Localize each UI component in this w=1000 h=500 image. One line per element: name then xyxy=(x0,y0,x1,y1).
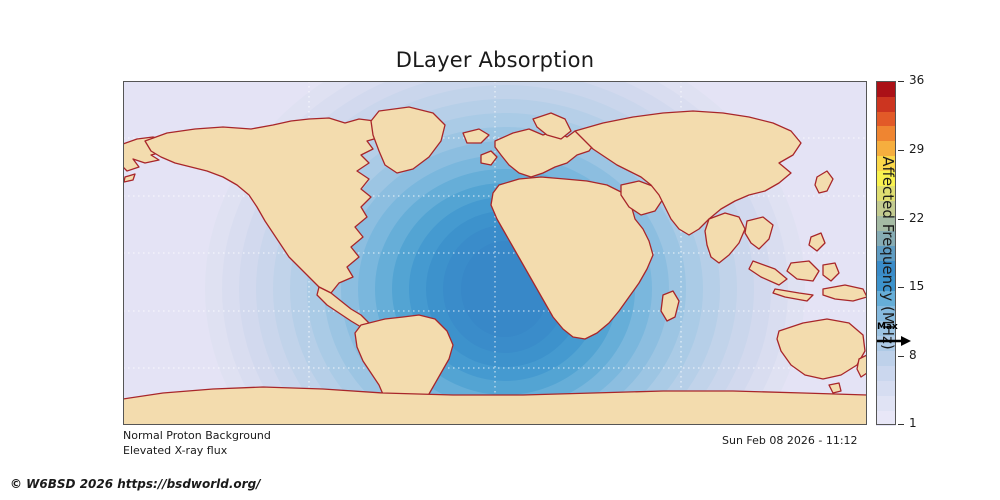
timestamp: Sun Feb 08 2026 - 11:12 xyxy=(722,434,858,447)
colorbar-ticklabel-22: 22 xyxy=(909,212,924,224)
map-svg xyxy=(123,81,867,425)
colorbar-axis-label: Affected Frequency (MHz) xyxy=(876,80,900,426)
note-proton-background: Normal Proton Background xyxy=(123,429,271,442)
colorbar-ticklabel-1: 1 xyxy=(909,417,917,429)
figure-root: DLayer Absorption xyxy=(0,0,1000,500)
world-map-plot[interactable] xyxy=(123,81,867,425)
colorbar-ticklabel-36: 36 xyxy=(909,74,924,86)
page-title: DLayer Absorption xyxy=(0,48,990,72)
colorbar-ticklabel-8: 8 xyxy=(909,349,917,361)
colorbar-ticklabel-29: 29 xyxy=(909,143,924,155)
note-xray-flux: Elevated X-ray flux xyxy=(123,444,227,457)
copyright-notice: © W6BSD 2026 https://bsdworld.org/ xyxy=(10,477,261,491)
colorbar-ticklabel-15: 15 xyxy=(909,280,924,292)
